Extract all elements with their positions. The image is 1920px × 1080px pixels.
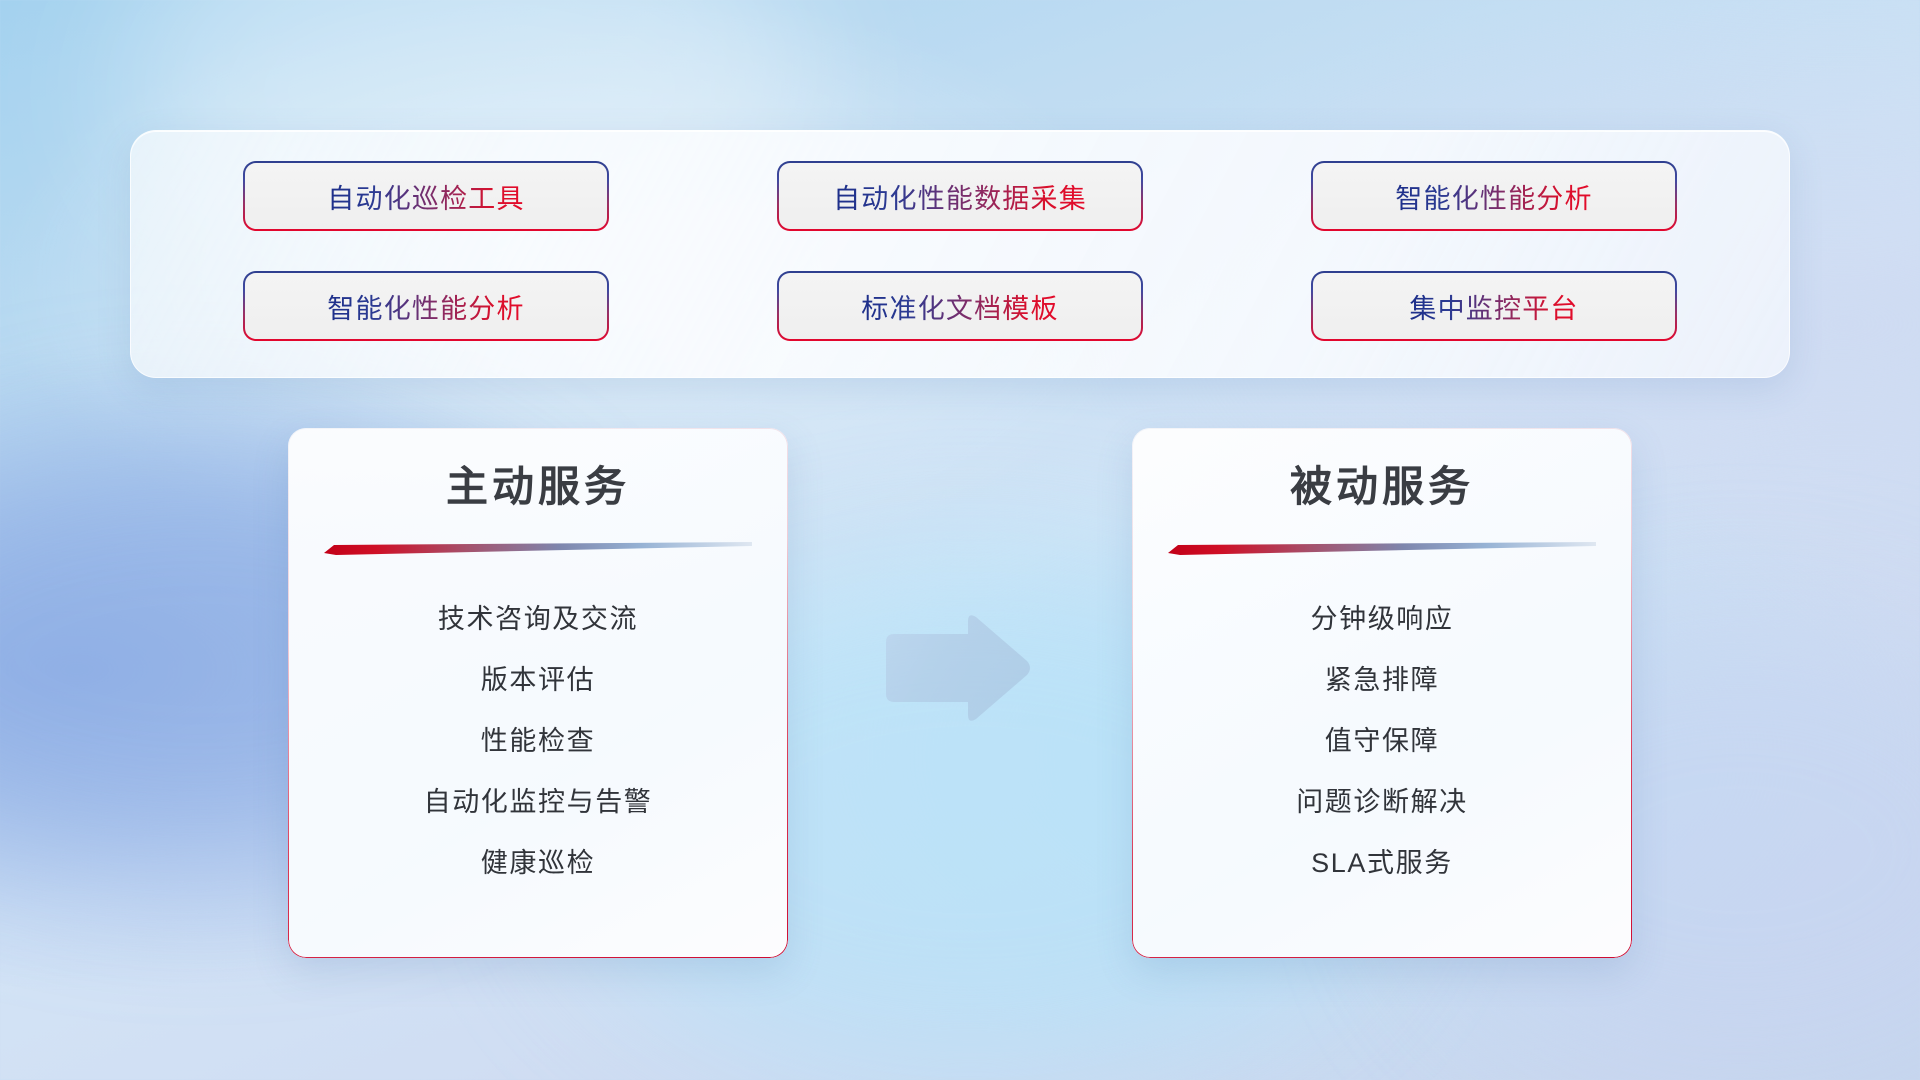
- card-item-list: 分钟级响应 紧急排障 值守保障 问题诊断解决 SLA式服务: [1132, 589, 1632, 894]
- capability-pill-label: 自动化巡检工具: [327, 177, 524, 216]
- list-item: SLA式服务: [1132, 833, 1632, 894]
- service-card-proactive: 主动服务 技术咨询及交流 版本评估 性能检查 自动化监控与告警 健康巡检: [288, 428, 788, 958]
- capability-pill-label: 智能化性能分析: [1395, 177, 1592, 216]
- service-card-reactive: 被动服务 分钟级响应 紧急排障 值守保障 问题诊断解决 SLA式服务: [1132, 428, 1632, 958]
- list-item: 问题诊断解决: [1132, 772, 1632, 833]
- list-item: 值守保障: [1132, 711, 1632, 772]
- capability-pill-label: 自动化性能数据采集: [833, 177, 1087, 216]
- capability-pill-label: 标准化文档模板: [861, 287, 1058, 326]
- capability-pill-4[interactable]: 智能化性能分析: [245, 273, 607, 339]
- title-divider: [324, 542, 752, 555]
- list-item: 紧急排障: [1132, 650, 1632, 711]
- card-title: 被动服务: [1132, 428, 1632, 508]
- card-title: 主动服务: [288, 428, 788, 508]
- card-item-list: 技术咨询及交流 版本评估 性能检查 自动化监控与告警 健康巡检: [288, 589, 788, 894]
- list-item: 健康巡检: [288, 833, 788, 894]
- capability-pill-1[interactable]: 自动化巡检工具: [245, 163, 607, 229]
- capability-pill-5[interactable]: 标准化文档模板: [779, 273, 1141, 339]
- list-item: 性能检查: [288, 711, 788, 772]
- list-item: 分钟级响应: [1132, 589, 1632, 650]
- capability-pill-6[interactable]: 集中监控平台: [1313, 273, 1675, 339]
- capability-pill-grid: 自动化巡检工具 自动化性能数据采集 智能化性能分析 智能化性能分析 标准化文档模…: [131, 131, 1789, 377]
- capability-pill-label: 智能化性能分析: [327, 287, 524, 326]
- list-item: 技术咨询及交流: [288, 589, 788, 650]
- arrow-right-icon: [872, 612, 1032, 724]
- list-item: 自动化监控与告警: [288, 772, 788, 833]
- capability-pill-2[interactable]: 自动化性能数据采集: [779, 163, 1141, 229]
- title-divider: [1168, 542, 1596, 555]
- capability-panel: 自动化巡检工具 自动化性能数据采集 智能化性能分析 智能化性能分析 标准化文档模…: [130, 130, 1790, 378]
- capability-pill-3[interactable]: 智能化性能分析: [1313, 163, 1675, 229]
- capability-pill-label: 集中监控平台: [1409, 287, 1578, 326]
- list-item: 版本评估: [288, 650, 788, 711]
